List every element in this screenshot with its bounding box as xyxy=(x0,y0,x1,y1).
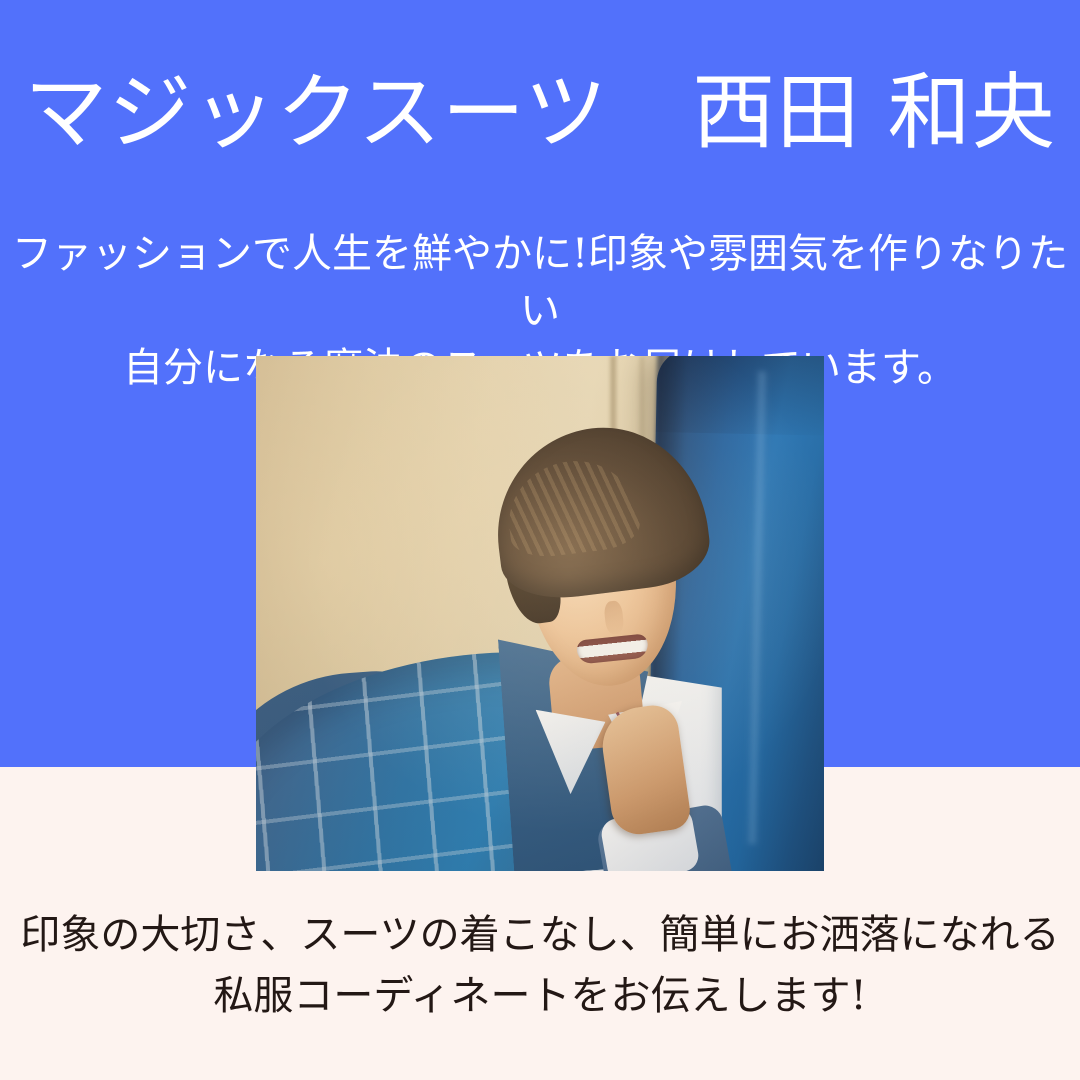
profile-card: マジックスーツ 西田 和央 ファッションで人生を鮮やかに!印象や雰囲気を作りなり… xyxy=(0,0,1080,1080)
tagline-line-1: 印象の大切さ、スーツの着こなし、簡単にお洒落になれる xyxy=(0,905,1080,966)
person-figure xyxy=(256,356,824,871)
lead-copy-line-1: ファッションで人生を鮮やかに!印象や雰囲気を作りなりたい xyxy=(0,226,1080,340)
tagline-line-2: 私服コーディネートをお伝えします! xyxy=(0,966,1080,1027)
page-title: マジックスーツ 西田 和央 xyxy=(0,58,1080,168)
profile-photo xyxy=(256,356,824,871)
hair xyxy=(485,416,714,605)
tagline-copy: 印象の大切さ、スーツの着こなし、簡単にお洒落になれる 私服コーディネートをお伝え… xyxy=(0,905,1080,1027)
